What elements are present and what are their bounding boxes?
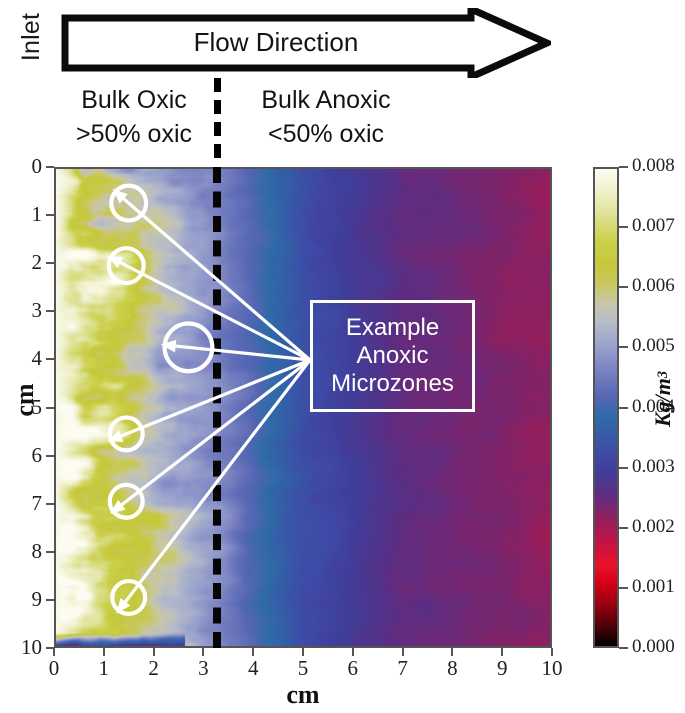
zone-divider-caption (214, 78, 221, 158)
colorbar-title: Kg/m3 (646, 369, 680, 429)
flow-direction-label: Flow Direction (61, 20, 491, 64)
y-tick-label: 9 (2, 587, 42, 612)
x-tick-label: 7 (383, 656, 423, 681)
x-tick (302, 648, 304, 656)
heatmap-plot (54, 167, 552, 648)
x-tick (103, 648, 105, 656)
annotation-line-1: Example (346, 314, 439, 342)
colorbar-tick-label: 0.002 (632, 516, 685, 538)
x-axis-title: cm (54, 680, 552, 710)
colorbar-title-exponent: 3 (655, 371, 672, 378)
colorbar-tick (619, 226, 628, 228)
y-tick (46, 407, 54, 409)
x-tick-label: 2 (134, 656, 174, 681)
y-tick (46, 310, 54, 312)
y-tick-label: 1 (2, 202, 42, 227)
inlet-label: Inlet (0, 2, 66, 72)
x-tick (451, 648, 453, 656)
colorbar-tick (619, 286, 628, 288)
y-tick (46, 551, 54, 553)
x-tick (551, 648, 553, 656)
colorbar-tick-label: 0.001 (632, 576, 685, 598)
colorbar (593, 167, 619, 648)
colorbar-tick (619, 346, 628, 348)
colorbar-tick (619, 587, 628, 589)
x-tick-label: 0 (34, 656, 74, 681)
zone-caption-anoxic: Bulk Anoxic <50% oxic (226, 84, 426, 152)
x-tick (501, 648, 503, 656)
zone-oxic-subtitle: >50% oxic (56, 118, 212, 152)
colorbar-tick-label: 0.006 (632, 275, 685, 297)
x-tick-label: 1 (84, 656, 124, 681)
x-tick-label: 6 (333, 656, 373, 681)
colorbar-tick (619, 647, 628, 649)
y-tick-label: 3 (2, 298, 42, 323)
zone-divider-plot (213, 167, 221, 648)
colorbar-tick (619, 527, 628, 529)
annotation-line-2: Anoxic (356, 342, 428, 370)
y-axis-title: cm (5, 365, 45, 435)
y-tick-label: 6 (2, 443, 42, 468)
x-tick (352, 648, 354, 656)
x-tick-label: 8 (432, 656, 472, 681)
zone-anoxic-title: Bulk Anoxic (226, 84, 426, 118)
y-tick (46, 262, 54, 264)
heatmap-canvas (56, 169, 550, 646)
y-tick-label: 8 (2, 539, 42, 564)
x-tick-label: 10 (532, 656, 572, 681)
colorbar-tick-label: 0.005 (632, 335, 685, 357)
y-tick-label: 2 (2, 250, 42, 275)
y-tick (46, 166, 54, 168)
colorbar-tick (619, 467, 628, 469)
y-tick (46, 214, 54, 216)
x-tick-label: 5 (283, 656, 323, 681)
x-tick-label: 4 (233, 656, 273, 681)
x-tick (252, 648, 254, 656)
colorbar-tick-label: 0.008 (632, 155, 685, 177)
colorbar-tick-label: 0.000 (632, 636, 685, 658)
colorbar-tick (619, 407, 628, 409)
colorbar-tick (619, 166, 628, 168)
x-tick-label: 3 (183, 656, 223, 681)
x-tick (153, 648, 155, 656)
y-tick-label: 7 (2, 491, 42, 516)
annotation-callout-box: Example Anoxic Microzones (310, 300, 475, 412)
y-tick (46, 599, 54, 601)
y-tick (46, 455, 54, 457)
colorbar-tick-label: 0.003 (632, 456, 685, 478)
y-tick-label: 0 (2, 154, 42, 179)
x-tick (402, 648, 404, 656)
x-tick (53, 648, 55, 656)
colorbar-tick-label: 0.007 (632, 215, 685, 237)
colorbar-title-text: Kg/m (650, 378, 676, 427)
zone-oxic-title: Bulk Oxic (56, 84, 212, 118)
zone-anoxic-subtitle: <50% oxic (226, 118, 426, 152)
x-tick-label: 9 (482, 656, 522, 681)
x-tick (202, 648, 204, 656)
zone-caption-oxic: Bulk Oxic >50% oxic (56, 84, 212, 152)
annotation-line-3: Microzones (331, 370, 454, 398)
y-tick (46, 503, 54, 505)
y-tick (46, 358, 54, 360)
